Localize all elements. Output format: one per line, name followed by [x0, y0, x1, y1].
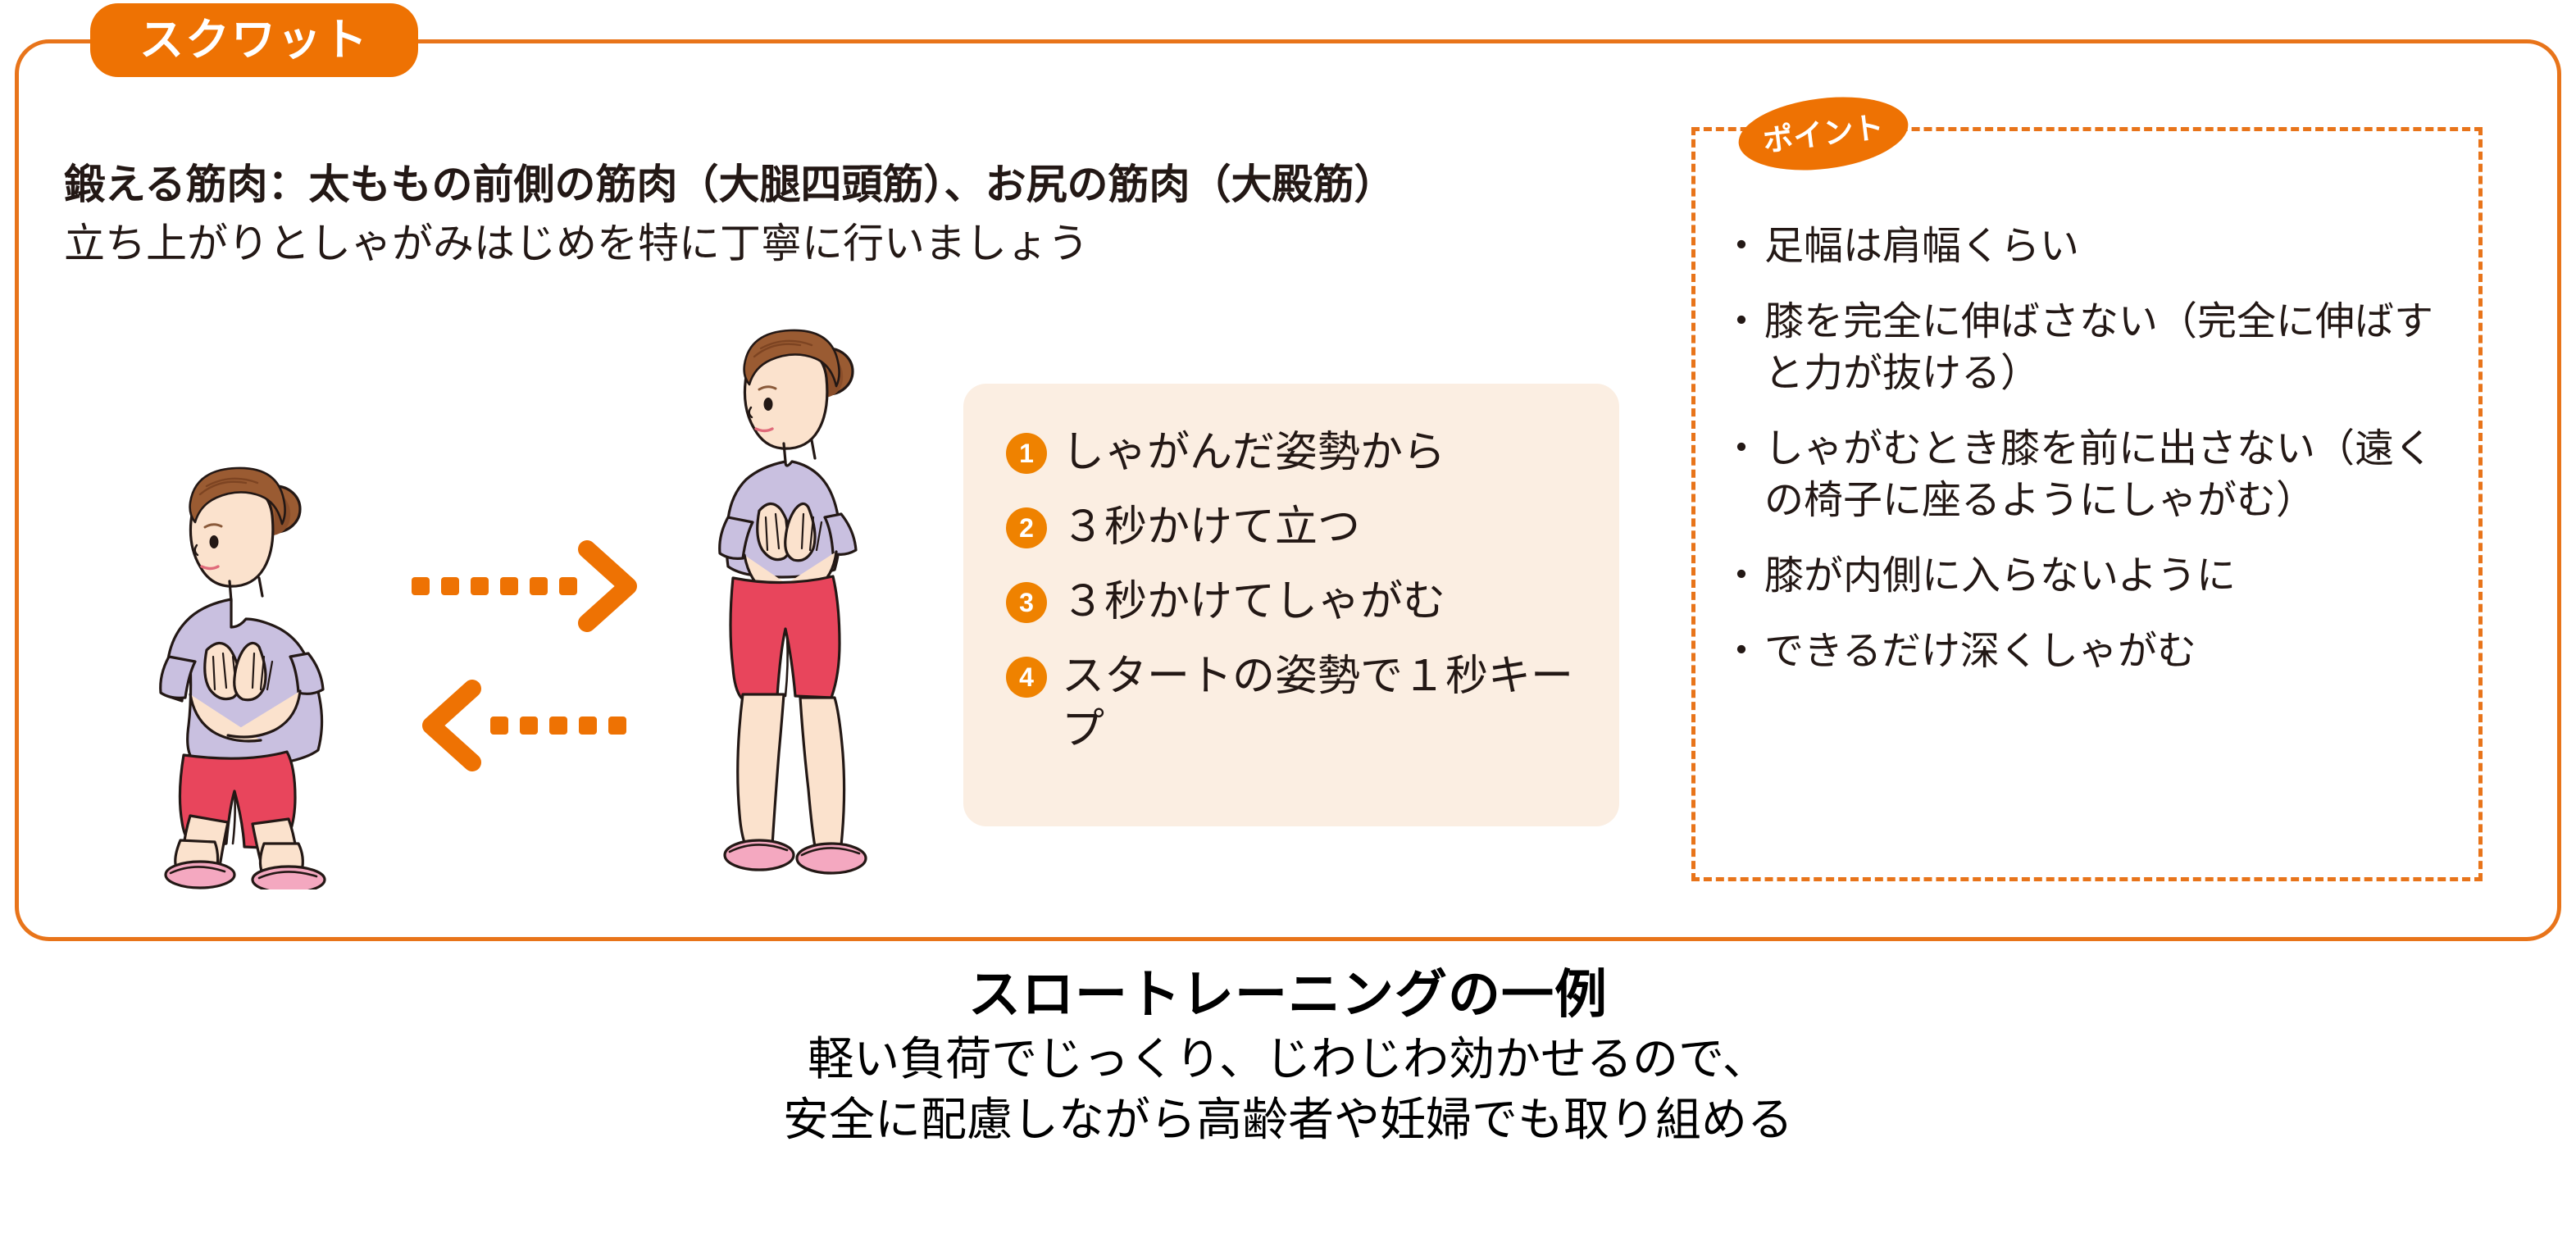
- point-text-5: できるだけ深くしゃがむ: [1764, 626, 2196, 677]
- bullet-icon: ・: [1722, 424, 1761, 475]
- bottom-caption: スロートレーニングの一例 軽い負荷でじっくり、じわじわ効かせるので、 安全に配慮…: [0, 963, 2576, 1148]
- point-text-2: 膝を完全に伸ばさない（完全に伸ばすと力が抜ける）: [1764, 297, 2460, 399]
- points-list: ・ 足幅は肩幅くらい ・ 膝を完全に伸ばさない（完全に伸ばすと力が抜ける） ・ …: [1722, 221, 2460, 703]
- headline-line-2: 立ち上がりとしゃがみはじめを特に丁寧に行いましょう: [64, 216, 1704, 271]
- steps-card: 1 しゃがんだ姿勢から 2 ３秒かけて立つ 3 ３秒かけてしゃがむ 4 スタート…: [963, 384, 1619, 826]
- step-number-4: 4: [1006, 657, 1047, 698]
- headline-line-1: 鍛える筋肉：太ももの前側の筋肉（大腿四頭筋）、お尻の筋肉（大殿筋）: [64, 157, 1704, 212]
- panel-title-text: スクワット: [139, 18, 369, 62]
- panel-title-badge: スクワット: [90, 3, 418, 77]
- point-item-3: ・ しゃがむとき膝を前に出さない（遠くの椅子に座るようにしゃがむ）: [1722, 424, 2460, 526]
- point-item-1: ・ 足幅は肩幅くらい: [1722, 221, 2460, 272]
- point-item-5: ・ できるだけ深くしゃがむ: [1722, 626, 2460, 677]
- step-text-1: しゃがんだ姿勢から: [1062, 426, 1445, 480]
- caption-subtitle-line-2: 安全に配慮しながら高齢者や妊婦でも取り組める: [0, 1092, 2576, 1148]
- step-item-2: 2 ３秒かけて立つ: [1006, 501, 1586, 554]
- step-number-1: 1: [1006, 433, 1047, 474]
- squatting-woman-illustration: [115, 430, 377, 889]
- point-text-1: 足幅は肩幅くらい: [1764, 221, 2079, 272]
- point-item-2: ・ 膝を完全に伸ばさない（完全に伸ばすと力が抜ける）: [1722, 297, 2460, 399]
- step-item-4: 4 スタートの姿勢で１秒キープ: [1006, 650, 1586, 757]
- point-text-3: しゃがむとき膝を前に出さない（遠くの椅子に座るようにしゃがむ）: [1764, 424, 2460, 526]
- headline-block: 鍛える筋肉：太ももの前側の筋肉（大腿四頭筋）、お尻の筋肉（大殿筋） 立ち上がりと…: [64, 157, 1704, 271]
- caption-title: スロートレーニングの一例: [0, 963, 2576, 1026]
- transition-arrows: [394, 525, 672, 820]
- step-number-2: 2: [1006, 507, 1047, 548]
- dotted-left-arrow: [431, 689, 626, 762]
- step-text-3: ３秒かけてしゃがむ: [1062, 576, 1445, 629]
- point-text-4: 膝が内側に入らないように: [1764, 551, 2236, 602]
- infographic-page: スクワット 鍛える筋肉：太ももの前側の筋肉（大腿四頭筋）、お尻の筋肉（大殿筋） …: [0, 0, 2576, 1242]
- step-item-3: 3 ３秒かけてしゃがむ: [1006, 576, 1586, 629]
- bullet-icon: ・: [1722, 626, 1761, 677]
- step-number-3: 3: [1006, 582, 1047, 623]
- caption-subtitle-line-1: 軽い負荷でじっくり、じわじわ効かせるので、: [0, 1031, 2576, 1087]
- bullet-icon: ・: [1722, 551, 1761, 602]
- bullet-icon: ・: [1722, 297, 1761, 348]
- step-item-1: 1 しゃがんだ姿勢から: [1006, 426, 1586, 480]
- points-badge-label: ポイント: [1761, 111, 1885, 157]
- dotted-right-arrow: [412, 549, 628, 623]
- bullet-icon: ・: [1722, 221, 1761, 272]
- step-text-4: スタートの姿勢で１秒キープ: [1062, 650, 1586, 757]
- point-item-4: ・ 膝が内側に入らないように: [1722, 551, 2460, 602]
- step-text-2: ３秒かけて立つ: [1062, 501, 1360, 554]
- standing-woman-illustration: [672, 307, 910, 889]
